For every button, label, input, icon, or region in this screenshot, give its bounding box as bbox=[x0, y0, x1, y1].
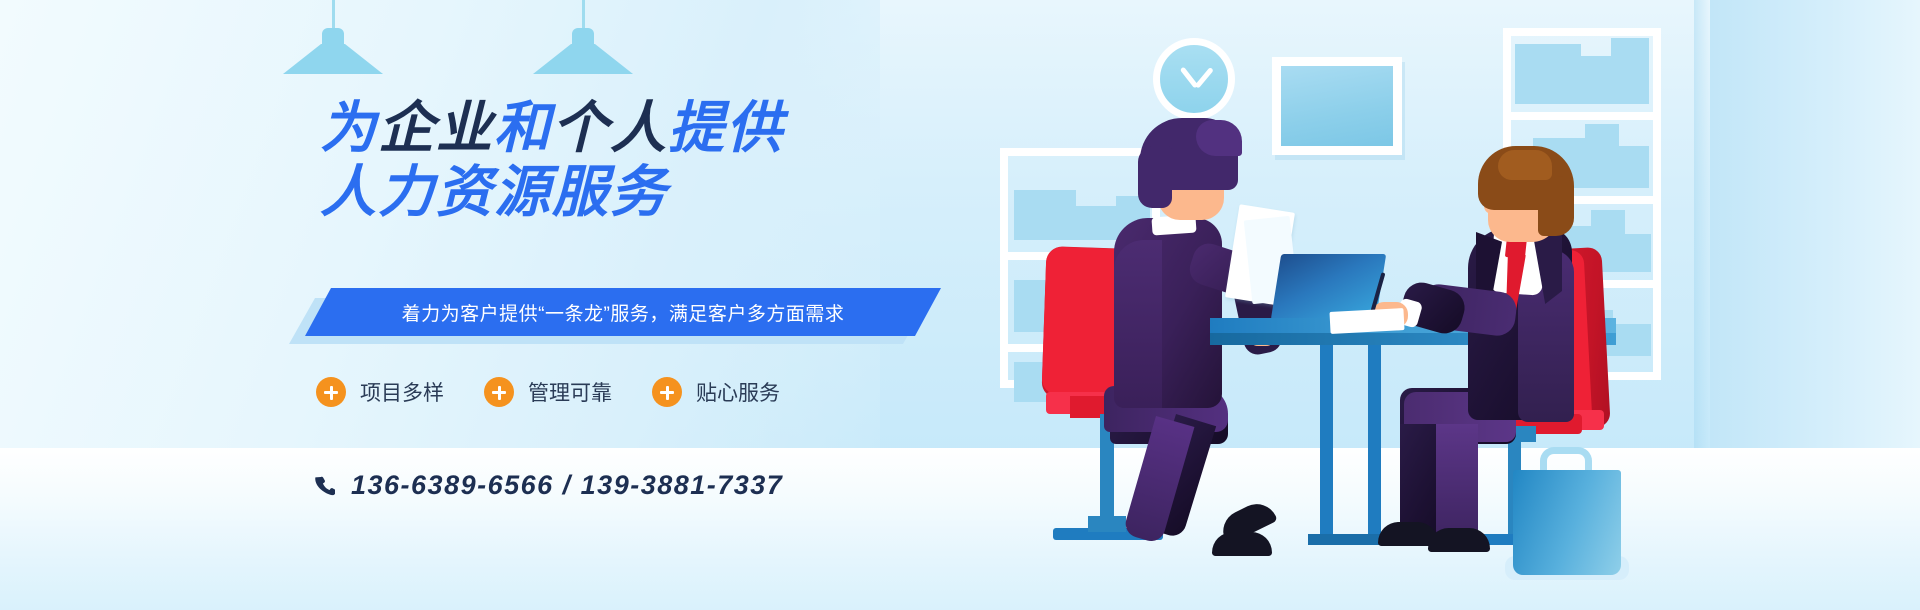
shelf-book bbox=[1613, 324, 1651, 356]
businessman-left-hair-side bbox=[1138, 146, 1172, 208]
businessman-right-hair-side bbox=[1538, 176, 1574, 236]
briefcase bbox=[1513, 470, 1621, 575]
businessman-right-shin bbox=[1436, 424, 1478, 542]
framed-picture bbox=[1272, 57, 1402, 155]
shelf-book bbox=[1625, 234, 1651, 272]
shelf-divider bbox=[1503, 112, 1661, 120]
lamp-shade bbox=[533, 44, 633, 74]
lamp-cord bbox=[582, 0, 585, 30]
desk-leg bbox=[1320, 345, 1333, 537]
document-paper-right bbox=[1329, 308, 1404, 334]
clock-minute-hand bbox=[1195, 67, 1214, 89]
page-title: 为企业和个人提供 人力资源服务 bbox=[320, 96, 1080, 224]
businessman-right-shoe bbox=[1428, 528, 1490, 552]
office-chair-left-hub bbox=[1088, 516, 1126, 532]
shelf-book bbox=[1581, 56, 1611, 104]
businessman-right-hair-highlight bbox=[1498, 150, 1552, 180]
businessman-left-shoe bbox=[1212, 532, 1272, 556]
feature-label: 项目多样 bbox=[360, 377, 444, 407]
hr-service-banner: 为企业和个人提供 人力资源服务 着力为客户提供“一条龙”服务，满足客户多方面需求… bbox=[0, 0, 1920, 610]
headline-seg: 为 bbox=[320, 96, 378, 159]
headline-seg: 人力资源服务 bbox=[320, 160, 668, 223]
phone-icon bbox=[313, 474, 335, 498]
phone-number: 136-6389-6566 / 139-3881-7337 bbox=[351, 470, 783, 501]
plus-icon bbox=[484, 377, 514, 407]
feature-item[interactable]: 管理可靠 bbox=[484, 377, 612, 407]
headline-seg: 和 bbox=[494, 96, 552, 159]
feature-list: 项目多样 管理可靠 贴心服务 bbox=[316, 377, 780, 407]
headline-seg: 提供 bbox=[668, 96, 784, 159]
picture-canvas bbox=[1281, 66, 1393, 146]
shelf-book bbox=[1611, 38, 1649, 104]
desk-leg bbox=[1368, 345, 1381, 537]
feature-item[interactable]: 项目多样 bbox=[316, 377, 444, 407]
pendant-lamp-icon bbox=[283, 0, 383, 82]
headline-line-1: 为企业和个人提供 bbox=[320, 96, 1080, 160]
subtitle-banner-band: 着力为客户提供“一条龙”服务，满足客户多方面需求 bbox=[305, 288, 941, 336]
subtitle-banner: 着力为客户提供“一条龙”服务，满足客户多方面需求 bbox=[275, 288, 935, 342]
shelf-book bbox=[1585, 124, 1619, 188]
clock-face bbox=[1153, 38, 1235, 120]
subtitle-text: 着力为客户提供“一条龙”服务，满足客户多方面需求 bbox=[402, 299, 845, 326]
lamp-shade bbox=[283, 44, 383, 74]
plus-icon bbox=[652, 377, 682, 407]
feature-label: 贴心服务 bbox=[696, 377, 780, 407]
feature-item[interactable]: 贴心服务 bbox=[652, 377, 780, 407]
shelf-book bbox=[1515, 44, 1581, 104]
headline-seg: 个人 bbox=[552, 96, 668, 159]
shelf-book bbox=[1076, 206, 1116, 240]
lamp-cord bbox=[332, 0, 335, 30]
plus-icon bbox=[316, 377, 346, 407]
pendant-lamp-icon bbox=[533, 0, 633, 82]
headline-seg: 企业 bbox=[378, 96, 494, 159]
headline-line-2: 人力资源服务 bbox=[320, 160, 1080, 224]
contact-phone[interactable]: 136-6389-6566 / 139-3881-7337 bbox=[313, 470, 783, 501]
wall-clock-icon bbox=[1153, 38, 1235, 120]
shelf-book bbox=[1619, 146, 1649, 188]
feature-label: 管理可靠 bbox=[528, 377, 612, 407]
businessman-left-hair-highlight bbox=[1196, 120, 1242, 156]
background-floor bbox=[0, 448, 1920, 610]
businessman-left-torso-highlight bbox=[1114, 240, 1162, 408]
